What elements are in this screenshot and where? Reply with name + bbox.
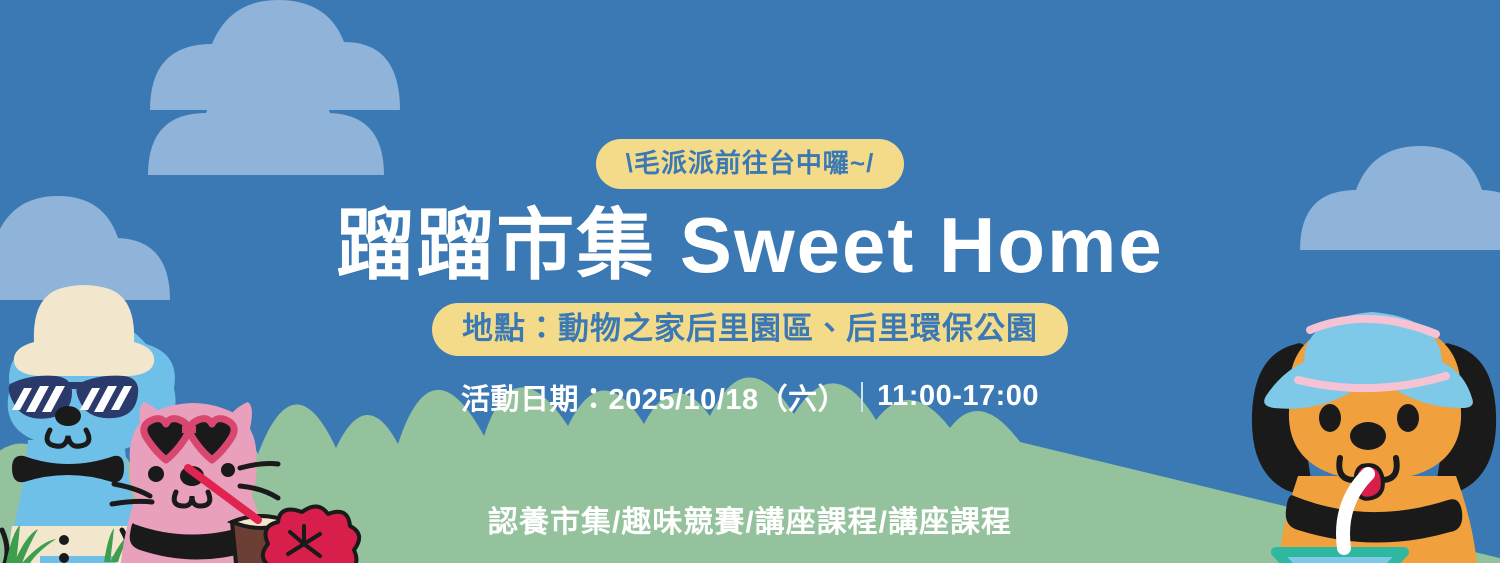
dog-nose: [55, 406, 81, 426]
activities-tagline: 認養市集/趣味競賽/講座課程/講座課程: [488, 497, 1012, 541]
location-badge: 地點：動物之家后里園區、后里環保公園: [432, 303, 1068, 356]
date-time-divider: [861, 382, 863, 412]
date-time-line: 活動日期：2025/10/18（六） 11:00-17:00: [461, 376, 1039, 418]
dog-button-top: [59, 535, 69, 545]
event-date-label: 活動日期：2025/10/18（六）: [461, 376, 847, 418]
dog-button-bottom: [59, 553, 69, 563]
event-banner: \毛派派前往台中囉~/ 蹓蹓市集 Sweet Home 地點：動物之家后里園區、…: [0, 0, 1500, 563]
kicker-badge: \毛派派前往台中囉~/: [596, 139, 905, 189]
page-title: 蹓蹓市集 Sweet Home: [336, 205, 1163, 287]
right-dog-nose: [1350, 422, 1386, 450]
character-right-dog: [1252, 312, 1496, 563]
cat-eye-right: [221, 463, 235, 477]
right-dog-eye-left: [1319, 404, 1341, 432]
event-time-range: 11:00-17:00: [877, 380, 1039, 413]
right-dog-eye-right: [1397, 404, 1419, 432]
cat-eye-left: [148, 466, 164, 482]
